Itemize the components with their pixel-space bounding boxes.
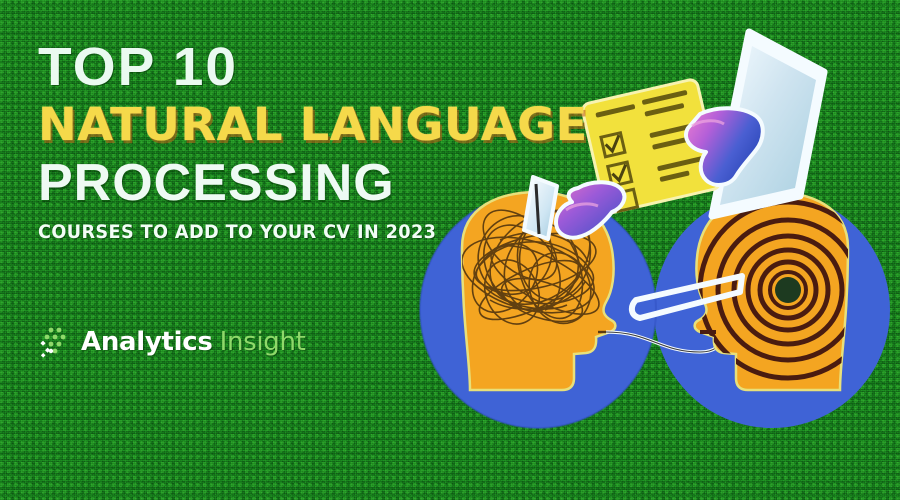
dot-matrix-icon bbox=[38, 326, 68, 358]
brand-name-primary: Analytics bbox=[81, 327, 213, 357]
poster-canvas: TOP 10 NATURAL LANGUAGE PROCESSING COURS… bbox=[0, 0, 900, 500]
headline-line-2: NATURAL LANGUAGE bbox=[38, 102, 481, 147]
brand-wordmark: AnalyticsInsight bbox=[81, 327, 306, 357]
brand-logo[interactable]: AnalyticsInsight bbox=[38, 326, 306, 358]
brand-name-secondary: Insight bbox=[220, 327, 306, 357]
headline-block: TOP 10 NATURAL LANGUAGE PROCESSING COURS… bbox=[38, 40, 468, 242]
headline-line-3: PROCESSING bbox=[38, 157, 468, 209]
headline-subtitle: COURSES TO ADD TO YOUR CV IN 2023 bbox=[38, 223, 438, 242]
headline-line-1: TOP 10 bbox=[38, 40, 477, 94]
